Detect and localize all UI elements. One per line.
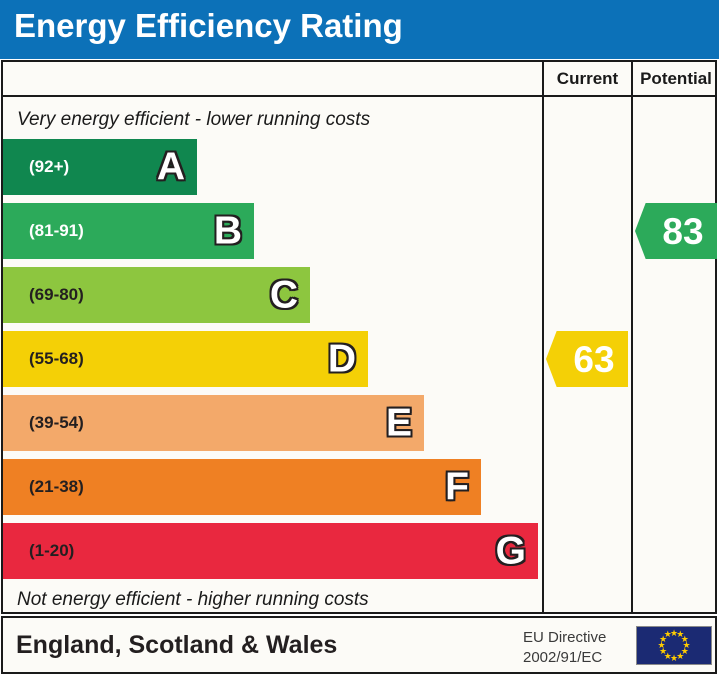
band-range-a: (92+) bbox=[29, 157, 69, 177]
eu-flag-star: ★ bbox=[663, 630, 672, 639]
ratings-table: Current Potential Very energy efficient … bbox=[1, 60, 717, 614]
band-range-d: (55-68) bbox=[29, 349, 84, 369]
rating-band-b: (81-91)B bbox=[3, 203, 254, 259]
band-range-b: (81-91) bbox=[29, 221, 84, 241]
rating-band-a: (92+)A bbox=[3, 139, 197, 195]
band-range-e: (39-54) bbox=[29, 413, 84, 433]
band-letter-a: A bbox=[157, 148, 185, 187]
band-letter-c: C bbox=[270, 276, 298, 315]
band-letter-b: B bbox=[214, 212, 242, 251]
directive-line-2: 2002/91/EC bbox=[523, 648, 628, 668]
band-range-g: (1-20) bbox=[29, 541, 74, 561]
band-range-f: (21-38) bbox=[29, 477, 84, 497]
band-letter-g: G bbox=[496, 532, 526, 571]
rating-band-c: (69-80)C bbox=[3, 267, 310, 323]
caption-very-efficient: Very energy efficient - lower running co… bbox=[17, 109, 370, 131]
column-divider-right bbox=[631, 62, 633, 612]
chart-header-bar: Energy Efficiency Rating bbox=[0, 0, 719, 59]
table-header-row: Current Potential bbox=[3, 62, 715, 97]
rating-value-current: 63 bbox=[559, 341, 614, 378]
column-header-potential: Potential bbox=[633, 62, 719, 95]
rating-bands: (92+)A(81-91)B(69-80)C(55-68)D(39-54)E(2… bbox=[3, 139, 542, 589]
rating-band-d: (55-68)D bbox=[3, 331, 368, 387]
rating-marker-current: 63 bbox=[546, 331, 628, 387]
rating-value-potential: 83 bbox=[648, 213, 703, 250]
band-range-c: (69-80) bbox=[29, 285, 84, 305]
column-divider-left bbox=[542, 62, 544, 612]
footer-region-label: England, Scotland & Wales bbox=[16, 631, 337, 660]
rating-band-f: (21-38)F bbox=[3, 459, 481, 515]
directive-line-1: EU Directive bbox=[523, 628, 628, 648]
chart-footer: England, Scotland & Wales EU Directive 2… bbox=[1, 616, 717, 674]
eu-flag-icon: ★★★★★★★★★★★★ bbox=[636, 626, 712, 665]
rating-marker-potential: 83 bbox=[635, 203, 717, 259]
caption-not-efficient: Not energy efficient - higher running co… bbox=[17, 589, 369, 611]
rating-band-e: (39-54)E bbox=[3, 395, 424, 451]
footer-directive: EU Directive 2002/91/EC bbox=[523, 628, 628, 669]
band-letter-e: E bbox=[386, 404, 412, 443]
energy-efficiency-rating-chart: Energy Efficiency Rating Current Potenti… bbox=[0, 0, 719, 675]
column-header-current: Current bbox=[544, 62, 631, 95]
page-title: Energy Efficiency Rating bbox=[14, 7, 403, 45]
band-letter-f: F bbox=[445, 468, 469, 507]
band-letter-d: D bbox=[328, 340, 356, 379]
rating-band-g: (1-20)G bbox=[3, 523, 538, 579]
